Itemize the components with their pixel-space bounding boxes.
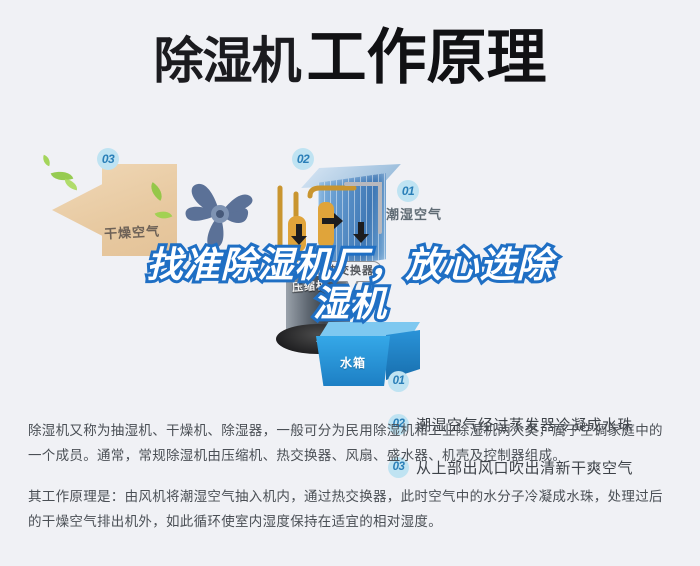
diagram-badge-dry: 03	[97, 148, 119, 170]
body-paragraph-2: 其工作原理是：由风机将潮湿空气抽入机内，通过热交换器，此时空气中的水分子冷凝成水…	[28, 484, 676, 534]
infographic-page: 除湿机工作原理 干燥空气 03	[0, 0, 700, 566]
leaf-icon	[41, 155, 53, 167]
moist-air-label: 潮湿空气	[386, 204, 442, 223]
page-title-part1: 除湿机	[154, 33, 301, 89]
diagram-badge-moist: 01	[397, 180, 419, 202]
page-title: 除湿机工作原理	[0, 28, 700, 88]
heat-exchanger-callout: 热交换器	[318, 261, 382, 282]
dry-air-label: 干燥空气	[104, 221, 161, 243]
diagram-illustration: 干燥空气 03	[0, 118, 700, 398]
page-title-part2: 工作原理	[307, 24, 547, 91]
moist-air-arc	[392, 126, 622, 276]
fan-icon	[176, 170, 264, 258]
body-paragraph-1: 除湿机又称为抽湿机、干燥机、除湿器，一般可分为民用除湿机和工业除湿机两大类，属于…	[28, 418, 676, 468]
legend-item: 01	[388, 370, 688, 392]
water-tank-label: 水箱	[340, 354, 366, 371]
legend-badge: 01	[388, 371, 409, 392]
body-text: 除湿机又称为抽湿机、干燥机、除湿器，一般可分为民用除湿机和工业除湿机两大类，属于…	[28, 418, 676, 534]
diagram-badge-exchanger: 02	[292, 148, 314, 170]
leaf-icon	[63, 179, 79, 191]
